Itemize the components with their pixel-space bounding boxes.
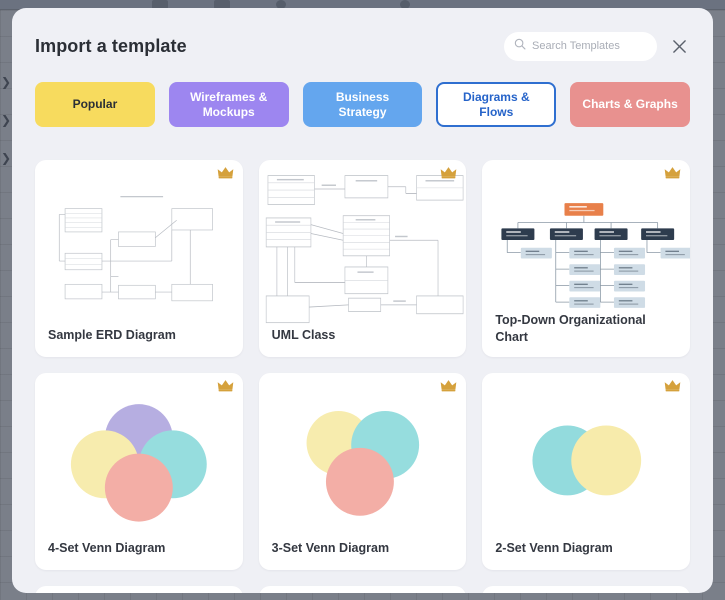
chevron-right-icon: ❯ [1,76,11,88]
page-title: Import a template [35,36,187,57]
crown-icon [664,379,681,392]
template-thumbnail [259,586,467,593]
template-card[interactable] [35,586,243,593]
category-chip-charts-graphs[interactable]: Charts & Graphs [570,82,690,127]
template-thumbnail [482,160,690,312]
template-card[interactable]: Sample ERD Diagram [35,160,243,357]
template-title: 2-Set Venn Diagram [482,540,690,570]
template-card[interactable] [259,586,467,593]
template-title: UML Class [259,327,467,357]
category-filter-row: PopularWireframes & MockupsBusiness Stra… [12,82,713,127]
template-title: Top-Down Organizational Chart [482,312,690,357]
close-icon [672,39,687,54]
crown-icon [440,379,457,392]
category-chip-business-strategy[interactable]: Business Strategy [303,82,423,127]
crown-icon [217,379,234,392]
template-title: Sample ERD Diagram [35,327,243,357]
template-thumbnail [482,586,690,593]
template-thumbnail [35,373,243,540]
category-chip-wireframes-mockups[interactable]: Wireframes & Mockups [169,82,289,127]
category-chip-diagrams-flows[interactable]: Diagrams & Flows [436,82,556,127]
premium-crown-badge [664,166,681,184]
premium-crown-badge [217,166,234,184]
premium-crown-badge [664,379,681,397]
template-card[interactable]: UML Class [259,160,467,357]
crown-icon [217,166,234,179]
close-button[interactable] [667,34,691,58]
premium-crown-badge [440,592,457,593]
template-thumbnail [482,373,690,540]
chevron-right-icon: ❯ [1,114,11,126]
template-card[interactable]: 3-Set Venn Diagram [259,373,467,570]
template-card[interactable]: 4-Set Venn Diagram [35,373,243,570]
template-card[interactable] [482,586,690,593]
template-thumbnail [35,160,243,327]
import-template-modal: Import a template PopularWireframes & M [12,8,713,593]
template-card[interactable]: Top-Down Organizational Chart [482,160,690,357]
chevron-right-icon: ❯ [1,152,11,164]
crown-icon [440,592,457,593]
crown-icon [440,166,457,179]
modal-header: Import a template [12,8,713,84]
premium-crown-badge [217,379,234,397]
category-chip-popular[interactable]: Popular [35,82,155,127]
crown-icon [664,592,681,593]
premium-crown-badge [440,166,457,184]
crown-icon [217,592,234,593]
premium-crown-badge [217,592,234,593]
template-thumbnail [259,373,467,540]
template-title: 3-Set Venn Diagram [259,540,467,570]
search-box[interactable] [504,32,657,61]
search-input[interactable] [532,40,647,52]
premium-crown-badge [440,379,457,397]
template-thumbnail [35,586,243,593]
template-card[interactable]: 2-Set Venn Diagram [482,373,690,570]
templates-scroll-area[interactable]: Sample ERD Diagram UML Class [12,147,713,593]
header-actions [504,32,691,61]
premium-crown-badge [664,592,681,593]
template-title: 4-Set Venn Diagram [35,540,243,570]
crown-icon [664,166,681,179]
template-thumbnail [259,160,467,327]
search-icon [514,37,526,55]
templates-grid: Sample ERD Diagram UML Class [35,160,690,593]
